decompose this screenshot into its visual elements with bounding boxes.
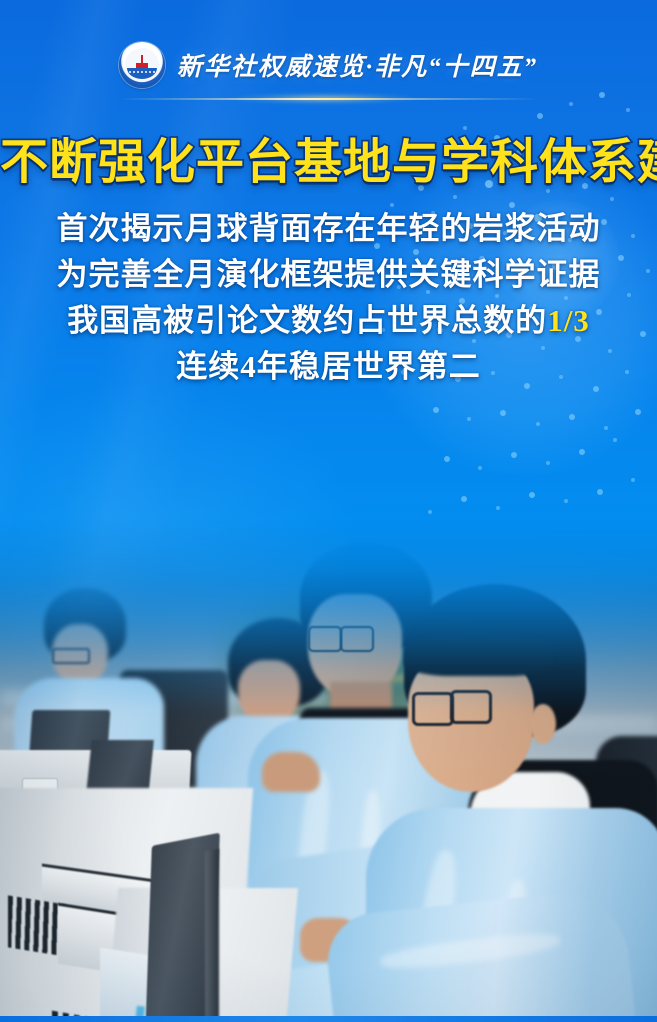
body-line-text: 我国高被引论文数约占世界总数的 bbox=[67, 303, 547, 338]
body-line-3: 我国高被引论文数约占世界总数的1/3 bbox=[0, 298, 657, 344]
body-line-4: 连续4年稳居世界第二 bbox=[0, 344, 657, 390]
body-line-text: 首次揭示月球背面存在年轻的岩浆活动 bbox=[57, 211, 601, 246]
bottom-accent-strip bbox=[0, 1016, 657, 1022]
body-line-1: 首次揭示月球背面存在年轻的岩浆活动 bbox=[0, 206, 657, 252]
body-line-text: 连续4年稳居世界第二 bbox=[176, 349, 481, 384]
body-text-block: 首次揭示月球背面存在年轻的岩浆活动为完善全月演化框架提供关键科学证据我国高被引论… bbox=[0, 206, 657, 390]
poster-root: 新华社权威速览·非凡“十四五” 不断强化平台基地与学科体系建设 首次揭示月球背面… bbox=[0, 0, 657, 1022]
logo-bottom-arc bbox=[127, 68, 157, 79]
divider-line bbox=[119, 98, 539, 100]
body-line-2: 为完善全月演化框架提供关键科学证据 bbox=[0, 252, 657, 298]
page-title: 不断强化平台基地与学科体系建设 bbox=[0, 122, 657, 192]
brand-title: 新华社权威速览·非凡“十四五” bbox=[177, 47, 538, 83]
body-line-text: 为完善全月演化框架提供关键科学证据 bbox=[57, 257, 601, 292]
logo-inner-disc bbox=[125, 48, 159, 82]
body-line-highlight: 1/3 bbox=[547, 303, 590, 338]
xinhua-agency-logo-icon bbox=[119, 42, 165, 88]
poster-content: 新华社权威速览·非凡“十四五” 不断强化平台基地与学科体系建设 首次揭示月球背面… bbox=[0, 0, 657, 1022]
golden-light-divider bbox=[119, 96, 539, 102]
header: 新华社权威速览·非凡“十四五” bbox=[0, 42, 657, 88]
